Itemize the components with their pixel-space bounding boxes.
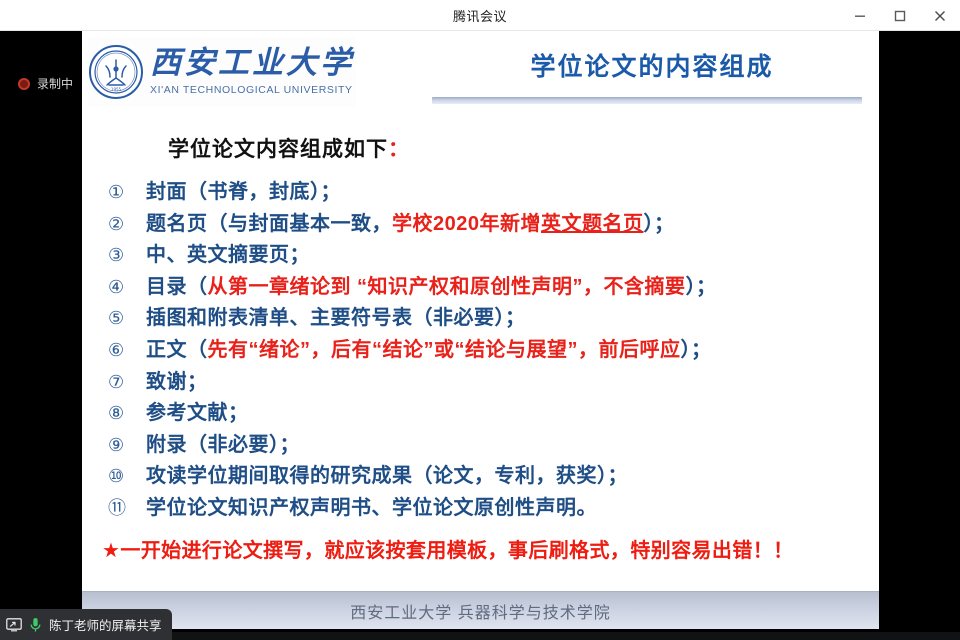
list-item: ⑤插图和附表清单、主要符号表（非必要）；	[102, 303, 865, 335]
list-item-marker: ⑩	[102, 462, 146, 490]
window-titlebar: 腾讯会议	[0, 0, 960, 31]
text-segment: 附录（非必要）；	[146, 434, 300, 456]
list-item: ⑪学位论文知识产权声明书、学位论文原创性声明。	[102, 493, 865, 525]
list-item-marker: ⑨	[102, 431, 146, 459]
list-item-marker: ③	[102, 241, 146, 269]
text-segment: 封面（书脊，封底）；	[146, 181, 341, 203]
list-item: ②题名页（与封面基本一致，学校2020年新增英文题名页）；	[102, 209, 865, 241]
list-item: ④目录（从第一章绪论到 “知识产权和原创性声明”，不含摘要）；	[102, 272, 865, 304]
list-item-marker: ②	[102, 210, 146, 238]
list-item-marker: ⑪	[102, 494, 146, 522]
text-segment: 参考文献；	[146, 402, 249, 424]
slide-lead-text: 学位论文内容组成如下	[168, 138, 388, 161]
slide-lead-line: 学位论文内容组成如下：	[168, 133, 865, 163]
minimize-button[interactable]	[840, 0, 880, 31]
close-icon	[934, 10, 946, 22]
maximize-icon	[894, 10, 906, 22]
warning-note: ★一开始进行论文撰写，就应该按套用模板，事后刷格式，特别容易出错！！	[102, 534, 865, 563]
university-logo: 1955 西安工业大学 XI'AN TECHNOLOGICAL UNIVERSI…	[88, 37, 356, 107]
text-segment: 英文题名页	[541, 213, 644, 235]
list-item-text: 目录（从第一章绪论到 “知识产权和原创性声明”，不含摘要）；	[146, 272, 717, 304]
slide-title: 学位论文的内容组成	[437, 47, 867, 83]
university-logo-text: 西安工业大学 XI'AN TECHNOLOGICAL UNIVERSITY	[150, 48, 354, 96]
list-item: ①封面（书脊，封底）；	[102, 177, 865, 209]
recording-indicator: 录制中	[18, 75, 73, 92]
list-item: ③中、英文摘要页；	[102, 240, 865, 272]
list-item-marker: ⑦	[102, 368, 146, 396]
text-segment: 攻读学位期间取得的研究成果（论文，专利，获奖）；	[146, 465, 628, 487]
text-segment: 学校2020年新增	[392, 213, 541, 235]
slide-footer-text: 西安工业大学 兵器科学与技术学院	[350, 599, 610, 623]
list-item-marker: ⑧	[102, 399, 146, 427]
recording-dot-icon	[18, 78, 30, 90]
list-item-text: 封面（书脊，封底）；	[146, 177, 341, 209]
screen-share-bar: 陈丁老师的屏幕共享	[0, 609, 172, 640]
title-divider	[432, 97, 862, 104]
list-item-text: 附录（非必要）；	[146, 430, 300, 462]
meeting-window: 腾讯会议 录制中	[0, 0, 960, 640]
window-controls	[840, 0, 960, 31]
maximize-button[interactable]	[880, 0, 920, 31]
list-item: ⑦致谢；	[102, 367, 865, 399]
text-segment: ）；	[681, 339, 712, 361]
shared-screen-stage: 录制中	[0, 31, 960, 640]
text-segment: 正文（	[146, 339, 208, 361]
list-item-marker: ⑤	[102, 304, 146, 332]
list-item-text: 插图和附表清单、主要符号表（非必要）；	[146, 303, 526, 335]
list-item-text: 题名页（与封面基本一致，学校2020年新增英文题名页）；	[146, 209, 675, 241]
screen-share-icon	[6, 618, 22, 632]
list-item: ⑨附录（非必要）；	[102, 430, 865, 462]
text-segment: 从第一章绪论到 “知识产权和原创性声明”，不含摘要	[208, 276, 686, 298]
list-item-marker: ①	[102, 178, 146, 206]
text-segment: ）；	[686, 276, 717, 298]
university-name-cn: 西安工业大学	[150, 48, 354, 79]
list-item: ⑩攻读学位期间取得的研究成果（论文，专利，获奖）；	[102, 461, 865, 493]
university-name-en: XI'AN TECHNOLOGICAL UNIVERSITY	[150, 85, 354, 96]
slide-header: 1955 西安工业大学 XI'AN TECHNOLOGICAL UNIVERSI…	[82, 31, 879, 111]
list-item-text: 学位论文知识产权声明书、学位论文原创性声明。	[146, 493, 597, 525]
list-item: ⑧参考文献；	[102, 398, 865, 430]
recording-label: 录制中	[37, 75, 73, 92]
window-title: 腾讯会议	[453, 6, 507, 25]
list-item-marker: ⑥	[102, 336, 146, 364]
text-segment: 题名页（与封面基本一致，	[146, 213, 392, 235]
close-button[interactable]	[920, 0, 960, 31]
presentation-slide: 1955 西安工业大学 XI'AN TECHNOLOGICAL UNIVERSI…	[82, 31, 879, 629]
minimize-icon	[854, 10, 866, 22]
list-item-text: 中、英文摘要页；	[146, 240, 310, 272]
presenter-name: 陈丁老师的屏幕共享	[49, 615, 162, 634]
text-segment: 插图和附表清单、主要符号表（非必要）；	[146, 307, 526, 329]
slide-lead-colon: ：	[388, 138, 410, 161]
svg-text:1955: 1955	[111, 87, 122, 92]
list-item-text: 参考文献；	[146, 398, 249, 430]
slide-footer: 西安工业大学 兵器科学与技术学院	[82, 591, 879, 629]
text-segment: 中、英文摘要页；	[146, 244, 310, 266]
microphone-icon[interactable]	[29, 617, 42, 633]
text-segment: 目录（	[146, 276, 208, 298]
list-item-text: 致谢；	[146, 367, 208, 399]
list-item: ⑥正文（先有“绪论”，后有“结论”或“结论与展望”，前后呼应）；	[102, 335, 865, 367]
content-list: ①封面（书脊，封底）；②题名页（与封面基本一致，学校2020年新增英文题名页）；…	[102, 177, 865, 525]
text-segment: 先有“绪论”，后有“结论”或“结论与展望”，前后呼应	[208, 339, 681, 361]
text-segment: 学位论文知识产权声明书、学位论文原创性声明。	[146, 497, 597, 519]
text-segment: 致谢；	[146, 371, 208, 393]
text-segment: ）；	[644, 213, 675, 235]
slide-body: 学位论文内容组成如下： ①封面（书脊，封底）；②题名页（与封面基本一致，学校20…	[82, 111, 879, 601]
list-item-text: 攻读学位期间取得的研究成果（论文，专利，获奖）；	[146, 461, 628, 493]
university-emblem-icon: 1955	[88, 44, 144, 100]
list-item-marker: ④	[102, 273, 146, 301]
list-item-text: 正文（先有“绪论”，后有“结论”或“结论与展望”，前后呼应）；	[146, 335, 712, 367]
